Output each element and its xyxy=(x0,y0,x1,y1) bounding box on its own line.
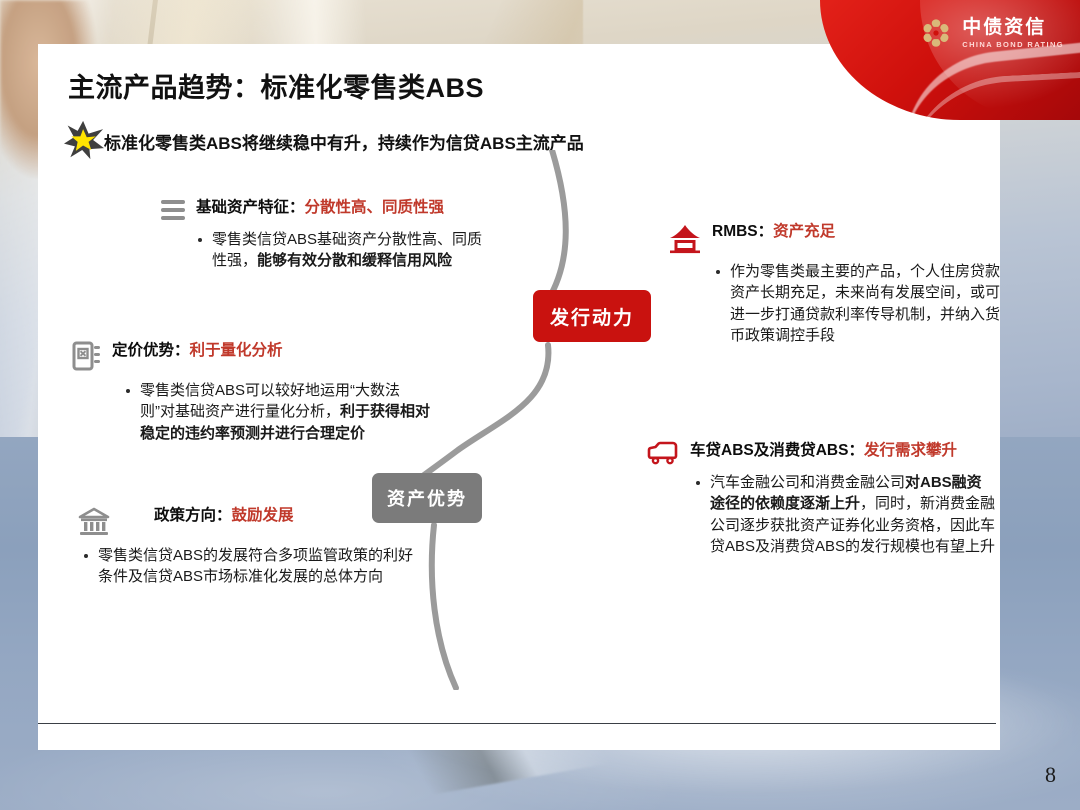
brand-logo: 中债资信 CHINA BOND RATING xyxy=(919,16,1064,50)
block-header: RMBS：资产充足 xyxy=(668,222,1008,254)
brand-name-cn: 中债资信 xyxy=(962,18,1064,37)
block-title-highlight: 发行需求攀升 xyxy=(864,442,957,459)
flower-emblem-icon xyxy=(919,16,953,50)
block-policy-direction: 政策方向：鼓励发展 零售类信贷ABS的发展符合多项监管政策的利好条件及信贷ABS… xyxy=(78,506,418,588)
block-title-highlight: 利于量化分析 xyxy=(190,342,283,359)
block-bullets: 汽车金融公司和消费金融公司对ABS融资途径的依赖度逐渐上升，同时，新消费金融公司… xyxy=(690,472,996,557)
footer-divider xyxy=(38,723,996,724)
block-title-highlight: 分散性高、同质性强 xyxy=(305,199,445,216)
block-bullets: 零售类信贷ABS基础资产分散性高、同质性强，能够有效分散和缓释信用风险 xyxy=(192,229,490,272)
block-title-label: 基础资产特征： xyxy=(196,199,305,216)
brand-logo-text: 中债资信 CHINA BOND RATING xyxy=(962,18,1064,49)
bullet-text-plain: 零售类信贷ABS的发展符合多项监管政策的利好条件及信贷ABS市场标准化发展的总体… xyxy=(98,547,413,585)
house-roof-icon xyxy=(668,222,702,254)
block-header: 车贷ABS及消费贷ABS：发行需求攀升 xyxy=(646,441,996,465)
block-auto-consumer-abs: 车贷ABS及消费贷ABS：发行需求攀升 汽车金融公司和消费金融公司对ABS融资途… xyxy=(646,441,996,557)
block-title-label: 车贷ABS及消费贷ABS： xyxy=(690,442,864,459)
list-item: 零售类信贷ABS可以较好地运用“大数法则”对基础资产进行量化分析，利于获得相对稳… xyxy=(120,380,432,444)
star-burst-icon xyxy=(62,120,106,160)
block-header: 政策方向：鼓励发展 xyxy=(78,506,418,538)
block-title-label: 定价优势： xyxy=(112,342,190,359)
brand-name-en: CHINA BOND RATING xyxy=(962,41,1064,49)
list-item: 零售类信贷ABS的发展符合多项监管政策的利好条件及信贷ABS市场标准化发展的总体… xyxy=(78,545,418,588)
block-title-highlight: 鼓励发展 xyxy=(232,507,294,524)
block-header: 基础资产特征：分散性高、同质性强 xyxy=(160,198,490,222)
bank-building-icon xyxy=(78,506,110,538)
block-title: 基础资产特征：分散性高、同质性强 xyxy=(196,198,444,217)
block-bullets: 作为零售类最主要的产品，个人住房贷款资产长期充足，未来尚有发展空间，或可进一步打… xyxy=(710,261,1008,346)
block-title-label: 政策方向： xyxy=(154,507,232,524)
block-title: 政策方向：鼓励发展 xyxy=(154,506,294,525)
block-title: RMBS：资产充足 xyxy=(712,222,835,241)
list-lines-icon xyxy=(160,198,186,222)
badge-issuance-driver[interactable]: 发行动力 xyxy=(533,290,651,342)
block-title-highlight: 资产充足 xyxy=(773,223,835,240)
slide-root: 中债资信 CHINA BOND RATING 主流产品趋势：标准化零售类ABS … xyxy=(0,0,1080,810)
page-subtitle: 标准化零售类ABS将继续稳中有升，持续作为信贷ABS主流产品 xyxy=(104,129,584,154)
block-rmbs: RMBS：资产充足 作为零售类最主要的产品，个人住房贷款资产长期充足，未来尚有发… xyxy=(668,222,1008,346)
list-item: 汽车金融公司和消费金融公司对ABS融资途径的依赖度逐渐上升，同时，新消费金融公司… xyxy=(690,472,996,557)
spreadsheet-document-icon xyxy=(72,341,102,373)
block-bullets: 零售类信贷ABS可以较好地运用“大数法则”对基础资产进行量化分析，利于获得相对稳… xyxy=(120,380,432,444)
bullet-text-bold: 能够有效分散和缓释信用风险 xyxy=(257,252,452,269)
list-item: 作为零售类最主要的产品，个人住房贷款资产长期充足，未来尚有发展空间，或可进一步打… xyxy=(710,261,1008,346)
block-title-label: RMBS： xyxy=(712,223,773,240)
car-icon xyxy=(646,441,680,465)
bullet-text-plain: 汽车金融公司和消费金融公司 xyxy=(710,474,905,491)
page-title: 主流产品趋势：标准化零售类ABS xyxy=(68,66,484,105)
page-number: 8 xyxy=(1045,762,1056,788)
bullet-text-plain: 作为零售类最主要的产品，个人住房贷款资产长期充足，未来尚有发展空间，或可进一步打… xyxy=(730,263,1000,344)
block-header: 定价优势：利于量化分析 xyxy=(72,341,432,373)
block-pricing-advantage: 定价优势：利于量化分析 零售类信贷ABS可以较好地运用“大数法则”对基础资产进行… xyxy=(72,341,432,444)
block-asset-feature: 基础资产特征：分散性高、同质性强 零售类信贷ABS基础资产分散性高、同质性强，能… xyxy=(160,198,490,272)
block-bullets: 零售类信贷ABS的发展符合多项监管政策的利好条件及信贷ABS市场标准化发展的总体… xyxy=(78,545,418,588)
block-title: 车贷ABS及消费贷ABS：发行需求攀升 xyxy=(690,441,957,460)
block-title: 定价优势：利于量化分析 xyxy=(112,341,283,360)
list-item: 零售类信贷ABS基础资产分散性高、同质性强，能够有效分散和缓释信用风险 xyxy=(192,229,490,272)
